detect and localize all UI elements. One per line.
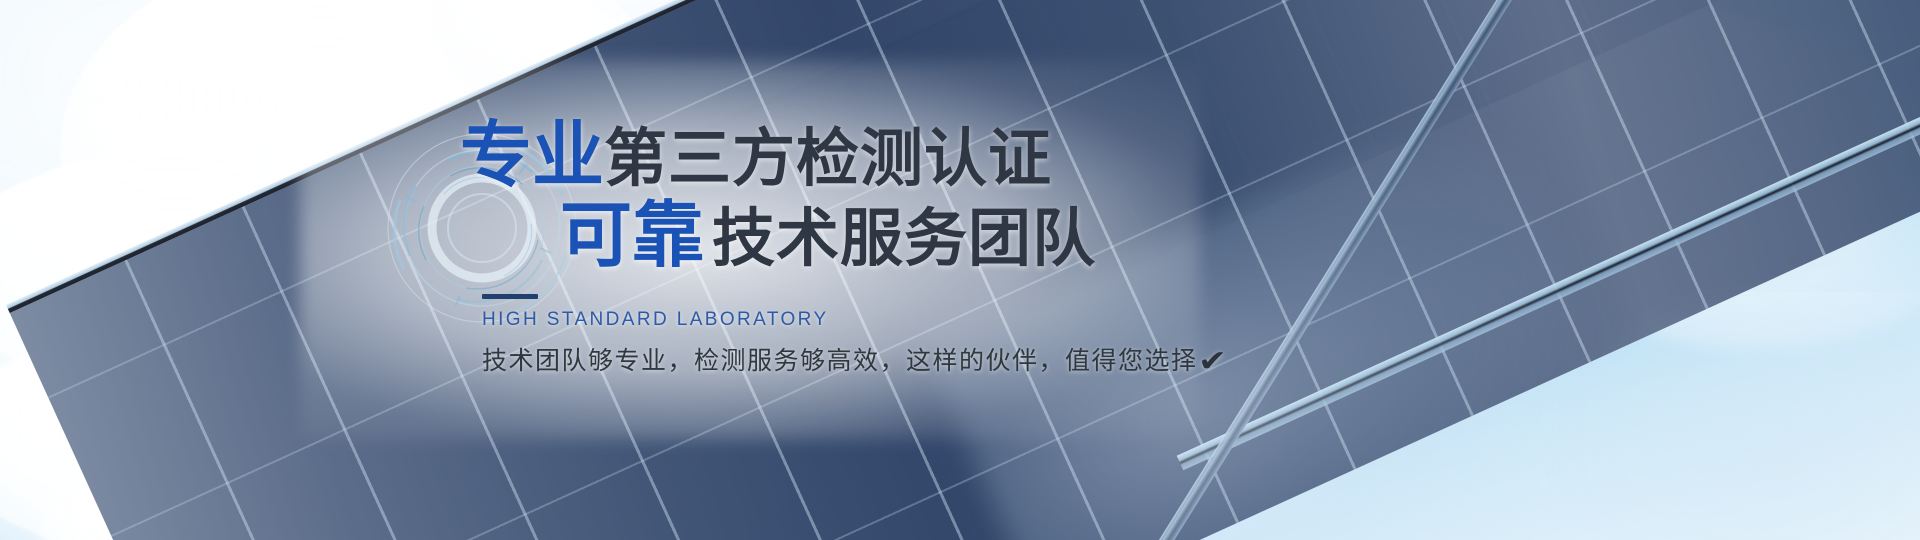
headline-keyword-2: 可靠 (560, 196, 704, 276)
subtitle-text: 技术团队够专业，检测服务够高效，这样的伙伴，值得您选择 (482, 347, 1198, 375)
hero-banner: 专业第三方检测认证 可靠技术服务团队 HIGH STANDARD LABORAT… (0, 0, 1920, 540)
banner-copy: 专业第三方检测认证 可靠技术服务团队 HIGH STANDARD LABORAT… (460, 120, 1460, 379)
headline-keyword-1: 专业 (460, 116, 604, 196)
subtitle-line: 技术团队够专业，检测服务够高效，这样的伙伴，值得您选择✔ (482, 341, 1460, 379)
headline-rest-1: 第三方检测认证 (604, 124, 1052, 194)
headline-line-1: 专业第三方检测认证 (460, 120, 1460, 192)
eyebrow-english-tagline: HIGH STANDARD LABORATORY (482, 309, 1460, 331)
check-icon: ✔ (1198, 344, 1229, 379)
divider-rule (482, 294, 538, 299)
headline-rest-2: 技术服务团队 (712, 204, 1096, 274)
headline-line-2: 可靠技术服务团队 (460, 200, 1460, 272)
